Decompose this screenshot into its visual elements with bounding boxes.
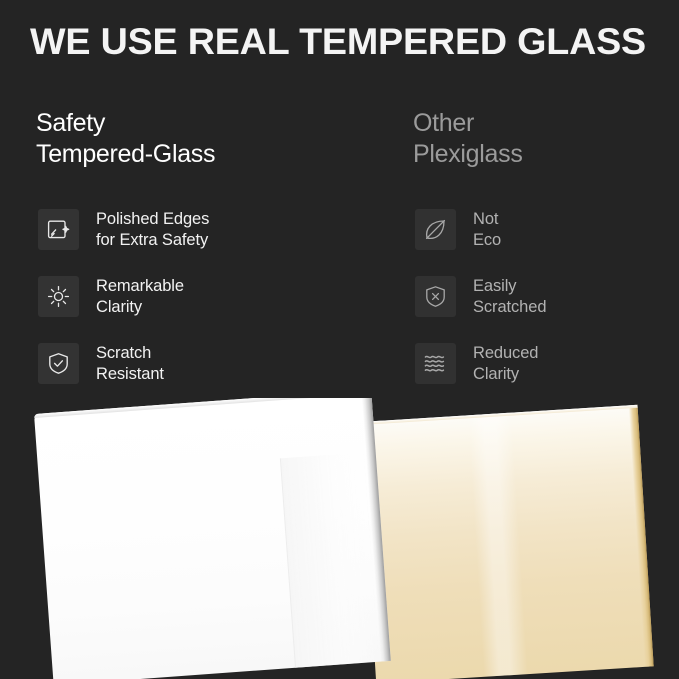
leaf-crossed-out-icon <box>415 209 456 250</box>
feature-label-line-1: Easily <box>473 276 546 297</box>
column-heading-line-2: Tempered-Glass <box>36 139 396 170</box>
product-photo <box>0 398 679 679</box>
feature-label: Polished Edges for Extra Safety <box>96 208 209 251</box>
feature-list-plexiglass: Not Eco Easily Scratched <box>415 208 675 409</box>
tempered-glass-panel <box>34 398 391 679</box>
shield-check-icon <box>38 343 79 384</box>
feature-label: Not Eco <box>473 208 501 251</box>
feature-label-line-1: Polished Edges <box>96 209 209 230</box>
feature-label-line-1: Scratch <box>96 343 164 364</box>
feature-label-line-1: Remarkable <box>96 276 184 297</box>
page-title: WE USE REAL TEMPERED GLASS <box>30 19 663 63</box>
column-heading-line-1: Other <box>413 108 675 139</box>
column-plexiglass: Other Plexiglass Not Eco <box>413 108 675 170</box>
column-heading-tempered-glass: Safety Tempered-Glass <box>36 108 396 170</box>
plexiglass-panel <box>360 405 654 679</box>
feature-label-line-1: Not <box>473 209 501 230</box>
wavy-lines-icon <box>415 343 456 384</box>
sun-brightness-icon <box>38 276 79 317</box>
feature-label-line-2: Eco <box>473 230 501 251</box>
feature-label-line-2: Scratched <box>473 297 546 318</box>
feature-row: Polished Edges for Extra Safety <box>38 208 396 275</box>
polished-edge-sparkle-icon <box>38 209 79 250</box>
feature-label: Reduced Clarity <box>473 342 538 385</box>
feature-label: Easily Scratched <box>473 275 546 318</box>
feature-label-line-2: for Extra Safety <box>96 230 209 251</box>
feature-label-line-2: Clarity <box>473 364 538 385</box>
feature-label: Scratch Resistant <box>96 342 164 385</box>
tempered-glass-comparison-infographic: WE USE REAL TEMPERED GLASS Safety Temper… <box>0 0 679 679</box>
feature-label: Remarkable Clarity <box>96 275 184 318</box>
column-heading-line-1: Safety <box>36 108 396 139</box>
column-heading-plexiglass: Other Plexiglass <box>413 108 675 170</box>
feature-row: Not Eco <box>415 208 675 275</box>
feature-row: Remarkable Clarity <box>38 275 396 342</box>
shield-x-icon <box>415 276 456 317</box>
feature-label-line-2: Clarity <box>96 297 184 318</box>
feature-label-line-2: Resistant <box>96 364 164 385</box>
column-heading-line-2: Plexiglass <box>413 139 675 170</box>
feature-label-line-1: Reduced <box>473 343 538 364</box>
feature-row: Easily Scratched <box>415 275 675 342</box>
feature-list-tempered-glass: Polished Edges for Extra Safety <box>38 208 396 409</box>
column-tempered-glass: Safety Tempered-Glass Polished Edges for… <box>36 108 396 170</box>
